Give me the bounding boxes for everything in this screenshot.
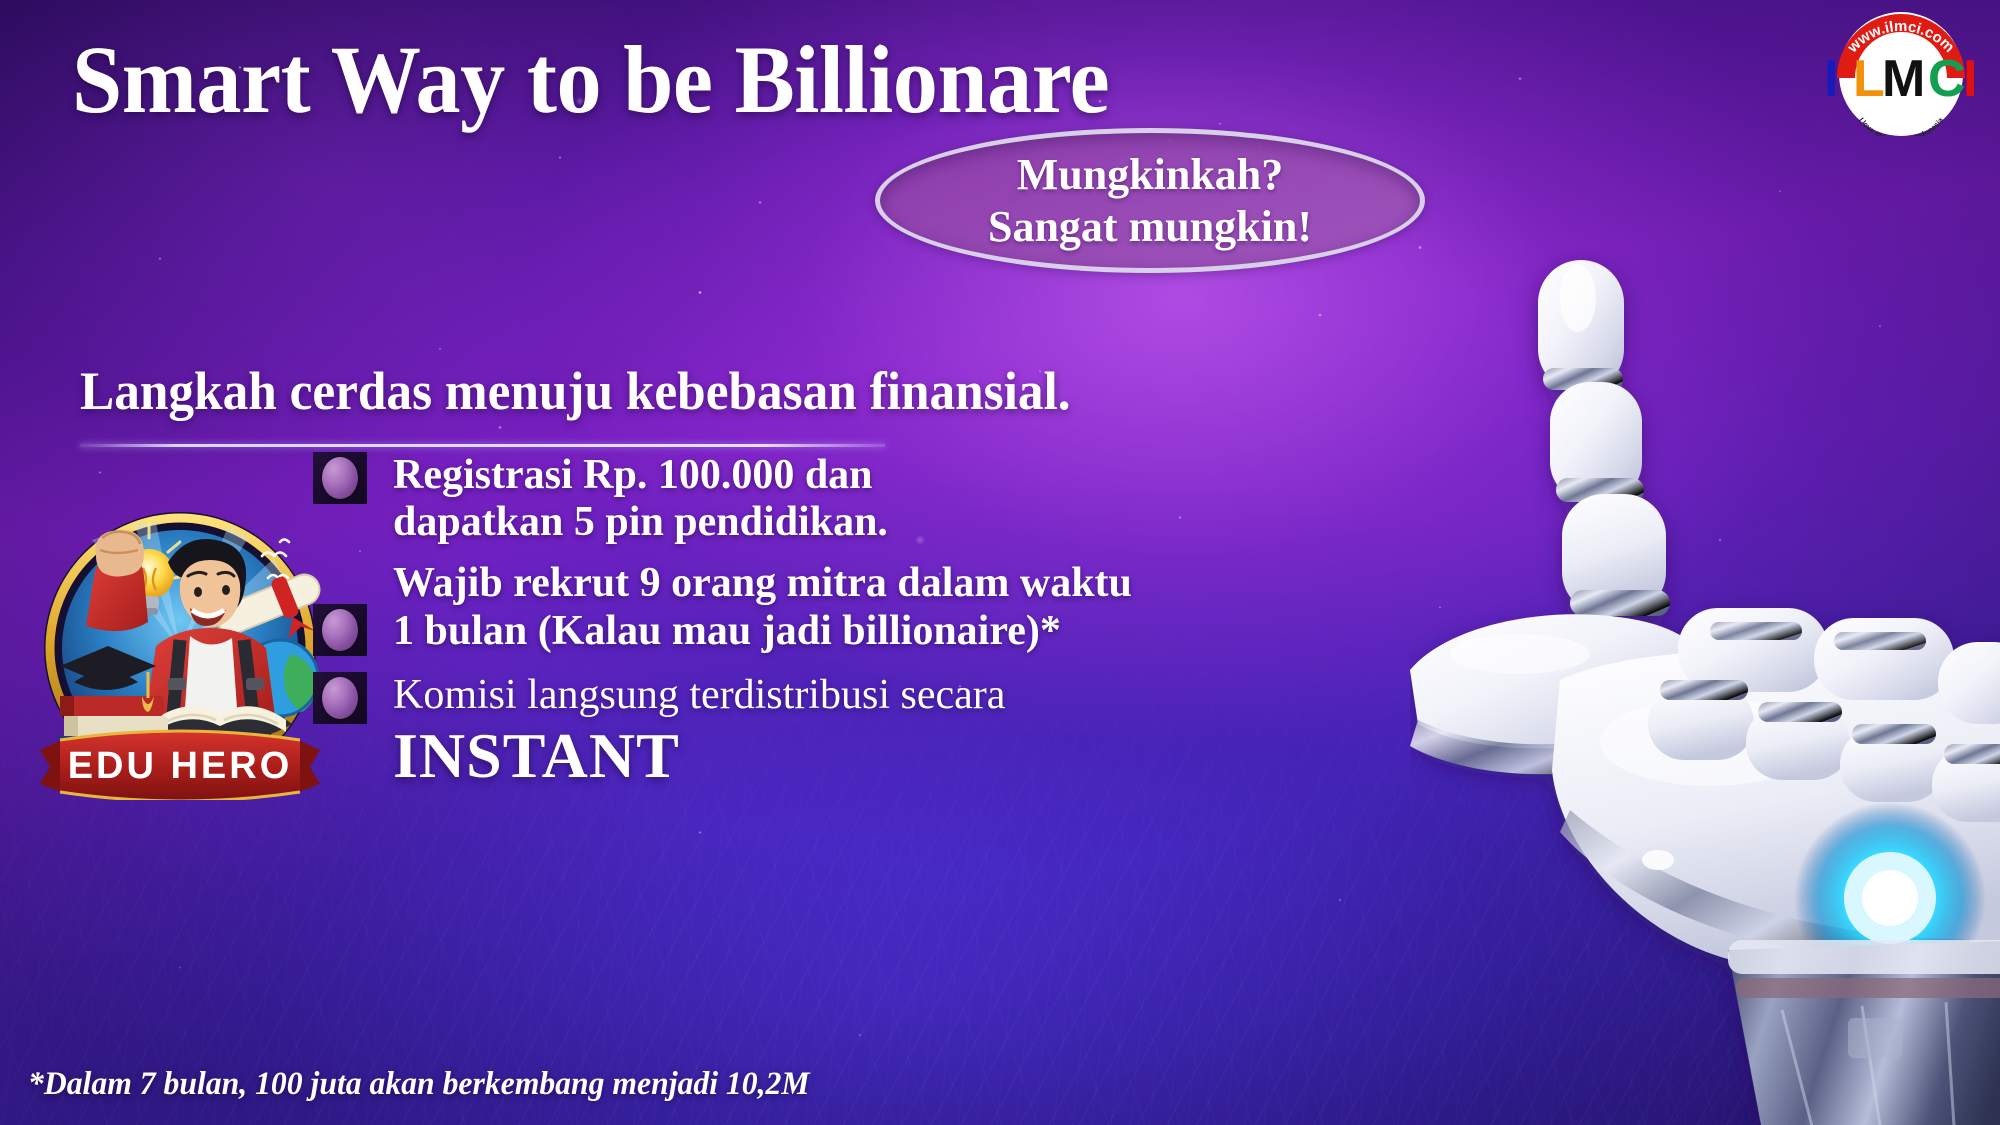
badge-ribbon: EDU HERO [40,731,320,800]
logo-letter-l: L [1853,50,1885,108]
callout-line-2: Sangat mungkin! [988,201,1312,253]
bullet-text-1: Registrasi Rp. 100.000 dan dapatkan 5 pi… [393,452,1153,546]
logo-letter-i2: I [1963,50,1977,108]
bullet-1-line-1: Registrasi Rp. 100.000 dan [393,452,1153,499]
robot-wrist [1728,940,2000,1125]
bullet-list: Registrasi Rp. 100.000 dan dapatkan 5 pi… [313,452,1213,795]
logo-letter-c: C [1928,50,1966,108]
footnote: *Dalam 7 bulan, 100 juta akan berkembang… [28,1066,810,1103]
bullet-marker-icon [313,452,367,504]
bullet-3-line-1: Komisi langsung terdistribusi secara [393,672,1213,720]
robot-index-finger [1538,260,1670,616]
bullet-item-2: Wajib rekrut 9 orang mitra dalam waktu 1… [313,560,1213,656]
instant-label: INSTANT [393,722,1213,789]
bullet-2-line-1: Wajib rekrut 9 orang mitra dalam waktu [393,560,1213,608]
bullet-1-line-2: dapatkan 5 pin pendidikan. [393,499,1153,546]
bullet-marker-icon [313,604,367,656]
bullet-text-2: Wajib rekrut 9 orang mitra dalam waktu 1… [393,560,1213,656]
callout-bubble: Mungkinkah? Sangat mungkin! [875,128,1425,273]
slide-canvas: Smart Way to be Billionare www.ilmci.com… [0,0,2000,1125]
callout-line-1: Mungkinkah? [1017,149,1284,201]
badge-ribbon-text: EDU HERO [68,745,293,787]
subtitle: Langkah cerdas menuju kebebasan finansia… [80,362,1144,421]
bullet-item-3: Komisi langsung terdistribusi secara INS… [313,672,1213,789]
divider-line [80,444,885,447]
logo-letter-m: M [1882,50,1925,108]
robot-hand-illustration [1410,250,2000,1125]
page-title: Smart Way to be Billionare [72,30,1087,131]
bullet-text-3: Komisi langsung terdistribusi secara [393,672,1213,720]
bullet-2-line-2: 1 bulan (Kalau mau jadi billionaire)* [393,608,1213,656]
ilmci-logo: www.ilmci.com I L M C I I love my countr… [1816,8,1986,136]
edu-hero-badge: EDU HERO [30,500,330,800]
logo-letter-i1: I [1824,50,1838,108]
bullet-marker-icon [313,672,367,724]
bullet-item-1: Registrasi Rp. 100.000 dan dapatkan 5 pi… [313,452,1213,546]
